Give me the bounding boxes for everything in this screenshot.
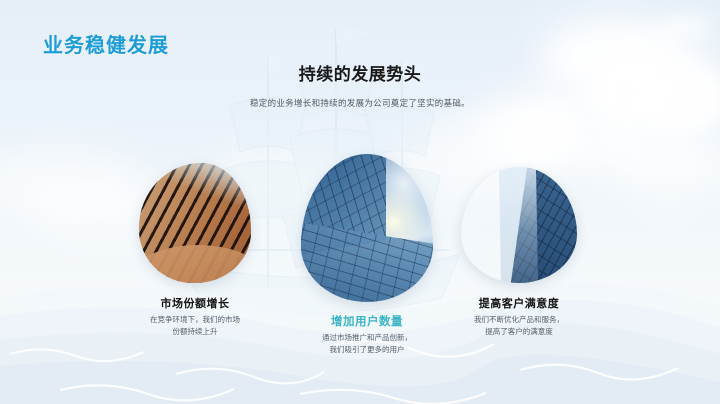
card-desc-user-growth: 通过市场推广和产品创新， 我们吸引了更多的用户 (284, 332, 450, 355)
card-image-market-share (139, 163, 251, 283)
card-title-market-share: 市场份额增长 (128, 295, 262, 311)
card-desc-market-share: 在竞争环境下，我们的市场 份额持续上升 (128, 314, 262, 337)
building-grid-lower (301, 221, 433, 302)
card-image-user-growth (301, 154, 433, 302)
card-customer-satisfaction[interactable]: 提高客户满意度 我们不断优化产品和服务， 提高了客户的满意度 (452, 167, 586, 337)
slide-headline: 持续的发展势头 (0, 60, 720, 85)
card-image-customer-satisfaction (461, 167, 577, 283)
skyscraper-sky-photo-icon (301, 154, 433, 302)
card-desc-line: 通过市场推广和产品创新， (284, 332, 450, 344)
card-title-customer-satisfaction: 提高客户满意度 (452, 295, 586, 311)
glass-facade-center (499, 167, 538, 283)
slide-subheadline: 稳定的业务增长和持续的发展为公司奠定了坚实的基础。 (0, 97, 720, 109)
card-desc-line: 份额持续上升 (128, 326, 262, 338)
wooden-building-facade-photo-icon (139, 163, 251, 283)
card-desc-line: 我们吸引了更多的用户 (284, 344, 450, 356)
card-market-share[interactable]: 市场份额增长 在竞争环境下，我们的市场 份额持续上升 (128, 163, 262, 337)
presentation-slide: 业务稳健发展 持续的发展势头 稳定的业务增长和持续的发展为公司奠定了坚实的基础。… (0, 0, 720, 404)
card-desc-line: 在竞争环境下，我们的市场 (128, 314, 262, 326)
card-title-user-growth: 增加用户数量 (284, 313, 450, 329)
card-desc-line: 提高了客户的满意度 (452, 326, 586, 338)
card-user-growth[interactable]: 增加用户数量 通过市场推广和产品创新， 我们吸引了更多的用户 (284, 154, 450, 355)
page-title: 业务稳健发展 (43, 29, 169, 58)
card-desc-customer-satisfaction: 我们不断优化产品和服务， 提高了客户的满意度 (452, 314, 586, 337)
glass-building-photo-icon (461, 167, 577, 283)
card-desc-line: 我们不断优化产品和服务， (452, 314, 586, 326)
